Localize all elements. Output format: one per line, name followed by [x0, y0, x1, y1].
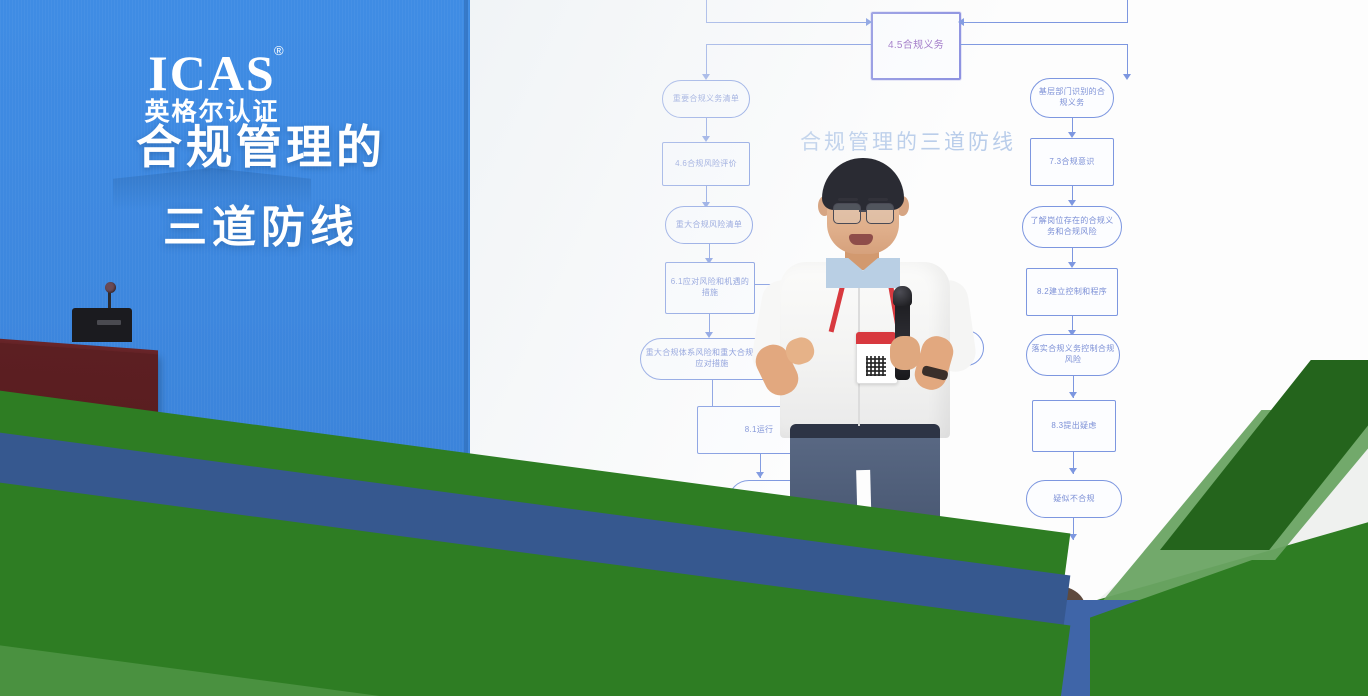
speaker-left-eyebrow	[838, 198, 858, 201]
speaker-belt	[790, 424, 940, 438]
speaker-right-eyebrow	[868, 198, 888, 201]
qr-code-icon	[866, 356, 886, 376]
microphone-head-icon	[893, 286, 912, 306]
name-badge-header	[856, 332, 896, 344]
speaker-right-hand	[890, 336, 920, 370]
speaker-mouth	[849, 234, 873, 245]
glasses-right-lens	[866, 203, 894, 224]
podium-microphone-icon	[105, 282, 116, 293]
backdrop-title-line2: 三道防线	[96, 206, 426, 250]
presentation-photo: 4.5合规义务 重要合规义务清单 4.6合规风险评价 重大合规风险清单 6.1应…	[0, 0, 1368, 696]
podium-device	[72, 308, 132, 342]
registered-trademark-icon: ®	[274, 44, 284, 57]
icas-subtitle: 英格尔认证	[113, 100, 311, 125]
glasses-bridge	[859, 210, 866, 212]
glasses-left-lens	[833, 203, 861, 224]
podium-device-strip	[97, 320, 121, 325]
